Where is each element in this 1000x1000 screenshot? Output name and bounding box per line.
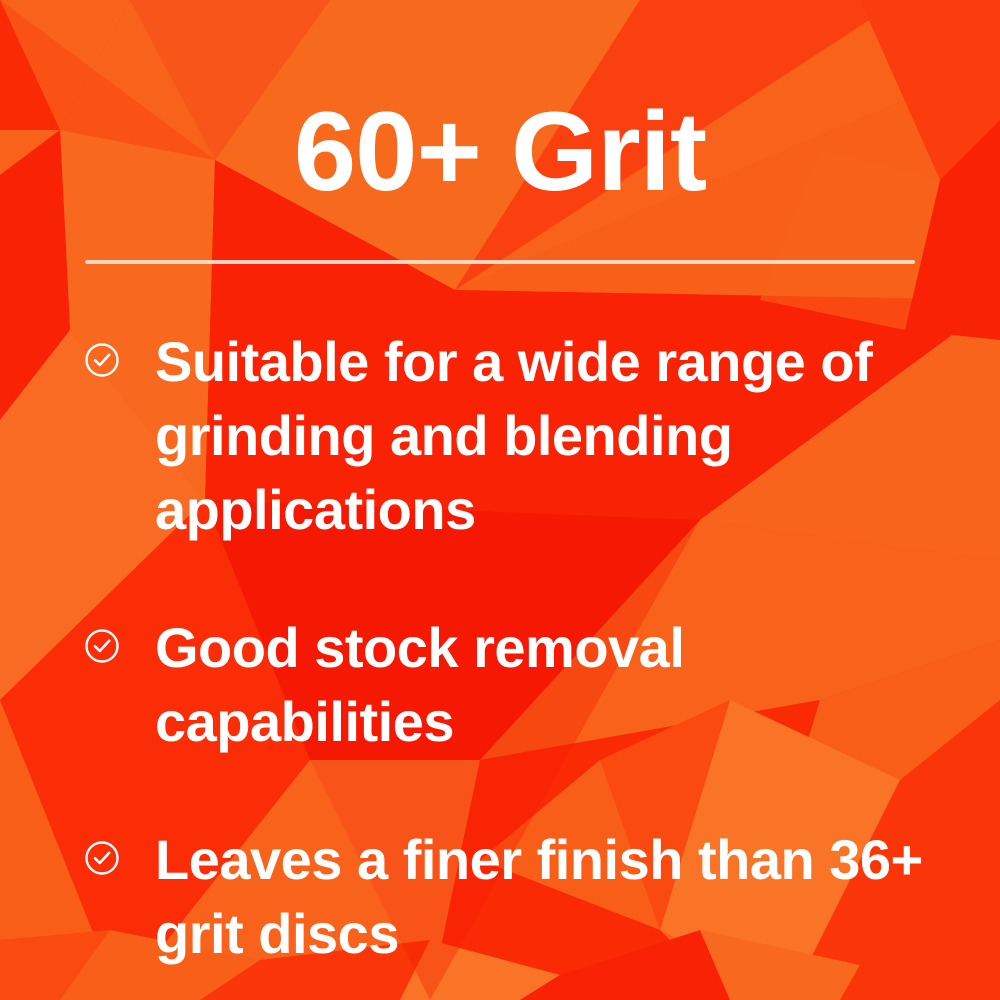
product-feature-card: 60+ Grit Suitable for a wide range of gr…	[0, 0, 1000, 1000]
list-item: Good stock removal capabilities	[84, 611, 942, 759]
card-content: 60+ Grit Suitable for a wide range of gr…	[0, 0, 1000, 1000]
feature-list: Suitable for a wide range of grinding an…	[84, 325, 942, 971]
list-item-label: Suitable for a wide range of grinding an…	[128, 325, 942, 547]
check-circle-icon	[84, 611, 128, 679]
list-item: Suitable for a wide range of grinding an…	[84, 325, 942, 547]
list-item-label: Good stock removal capabilities	[128, 611, 942, 759]
check-circle-icon	[84, 823, 128, 891]
page-title: 60+ Grit	[0, 96, 1000, 208]
list-item: Leaves a finer finish than 36+ grit disc…	[84, 823, 942, 971]
title-divider	[85, 260, 915, 264]
list-item-label: Leaves a finer finish than 36+ grit disc…	[128, 823, 942, 971]
check-circle-icon	[84, 325, 128, 393]
